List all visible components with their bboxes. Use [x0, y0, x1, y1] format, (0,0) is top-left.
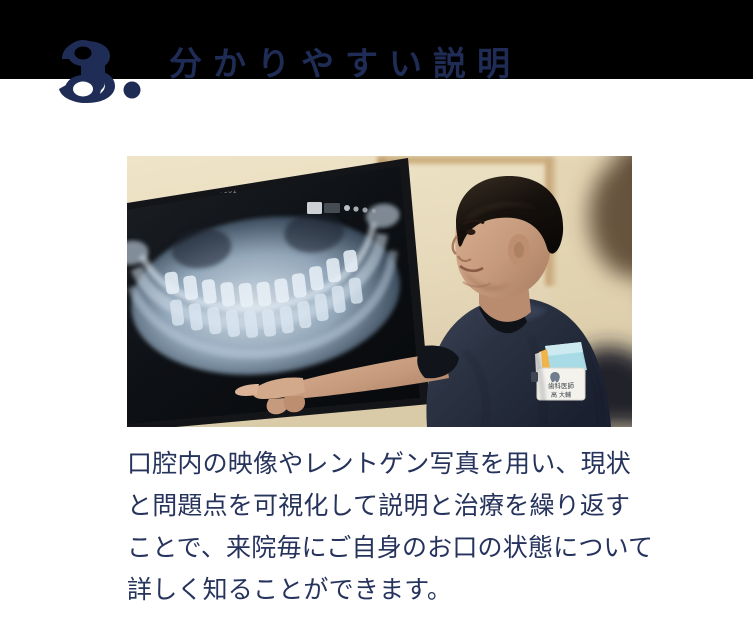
- description-line: 詳しく知ることができます。: [127, 569, 667, 611]
- step-number-dot-glyph: [124, 82, 141, 99]
- description-text: 口腔内の映像やレントゲン写真を用い、現状 と問題点を可視化して説明と治療を繰り返…: [127, 443, 667, 611]
- description-line: と問題点を可視化して説明と治療を繰り返す: [127, 485, 667, 527]
- badge-name-text: 高 大輔: [551, 391, 571, 399]
- description-line: ことで、来院毎にご自身のお口の状態について: [127, 527, 667, 569]
- section-photo: 20180601: [127, 156, 632, 427]
- step-number: [52, 20, 147, 110]
- page-title: 分かりやすい説明: [169, 47, 521, 80]
- section-header: 分かりやすい説明: [0, 0, 753, 110]
- description-line: 口腔内の映像やレントゲン写真を用い、現状: [127, 443, 667, 485]
- badge-role-text: 歯科医師: [548, 381, 575, 390]
- dentist-eye: [467, 229, 476, 235]
